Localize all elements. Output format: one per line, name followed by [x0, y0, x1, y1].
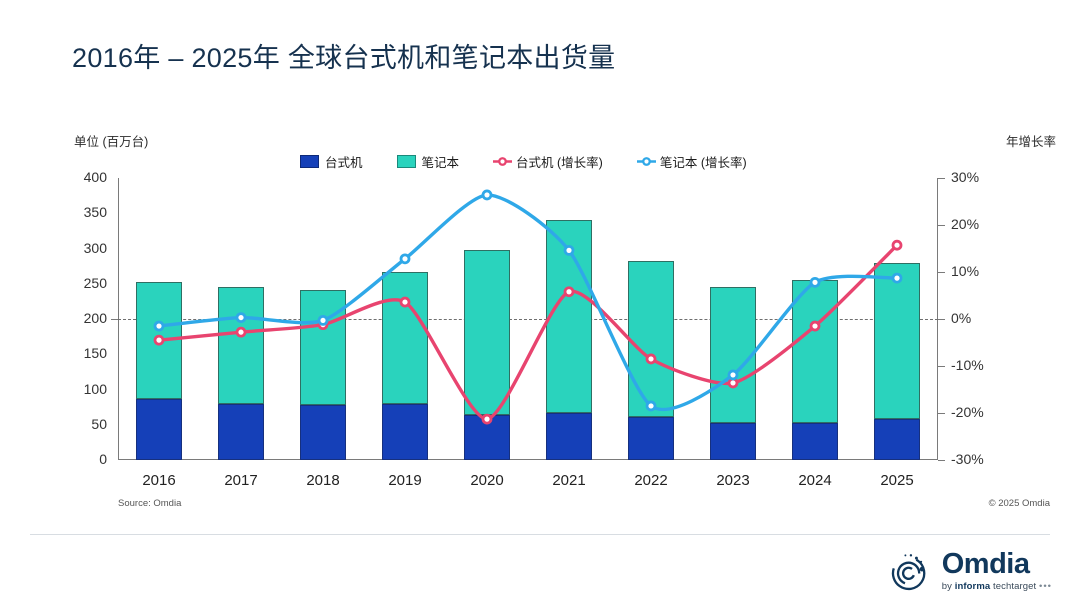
- footer-divider: [30, 534, 1050, 535]
- x-axis-label: 2021: [528, 472, 610, 489]
- x-axis-label: 2023: [692, 472, 774, 489]
- left-tick-label: 200: [84, 311, 107, 325]
- page-title: 2016年 – 2025年 全球台式机和笔记本出货量: [72, 36, 615, 75]
- bar-segment-notebook: [218, 287, 264, 404]
- bar-segment-desktop: [136, 399, 182, 460]
- legend-label: 台式机: [325, 152, 363, 171]
- omdia-swirl-icon: [887, 548, 933, 594]
- bar-group[interactable]: [382, 178, 428, 460]
- left-tick-label: 400: [84, 170, 107, 184]
- bar-segment-desktop: [300, 405, 346, 460]
- left-tick-label: 150: [84, 346, 107, 360]
- logo-tagline: by informa techtarget •••: [942, 582, 1052, 592]
- bar-segment-notebook: [628, 261, 674, 418]
- bar-segment-desktop: [218, 404, 264, 460]
- bar-group[interactable]: [792, 178, 838, 460]
- bar-segment-desktop: [710, 423, 756, 460]
- bar-segment-notebook: [710, 287, 756, 423]
- bar-segment-notebook: [136, 282, 182, 399]
- legend-desktop-growth[interactable]: 台式机 (增长率): [493, 152, 603, 171]
- bar-segment-desktop: [382, 404, 428, 460]
- right-tick-label: -30%: [951, 452, 984, 466]
- right-axis-caption: 年增长率: [1006, 131, 1056, 150]
- bar-segment-desktop: [874, 419, 920, 460]
- legend-label: 笔记本 (增长率): [660, 152, 747, 171]
- legend-label: 台式机 (增长率): [516, 152, 603, 171]
- copyright-note: © 2025 Omdia: [989, 498, 1050, 509]
- plot-area: 050100150200250300350400 -30%-20%-10%0%1…: [118, 178, 938, 460]
- x-axis-label: 2016: [118, 472, 200, 489]
- right-tick-label: -10%: [951, 358, 984, 372]
- right-tick-label: -20%: [951, 405, 984, 419]
- zero-tick-mark: [111, 319, 118, 320]
- slide-canvas: 2016年 – 2025年 全球台式机和笔记本出货量 单位 (百万台) 年增长率…: [0, 0, 1080, 608]
- bar-series: [118, 178, 938, 460]
- bar-segment-notebook: [464, 250, 510, 415]
- legend-notebook-bar[interactable]: 笔记本: [397, 152, 460, 171]
- x-axis-label: 2017: [200, 472, 282, 489]
- right-tick-label: 0%: [951, 311, 971, 325]
- bar-segment-desktop: [546, 413, 592, 460]
- right-tick-mark: [938, 460, 945, 461]
- bar-group[interactable]: [628, 178, 674, 460]
- legend-swatch-icon: [397, 155, 416, 168]
- x-axis-label: 2020: [446, 472, 528, 489]
- left-tick-label: 250: [84, 276, 107, 290]
- right-tick-mark: [938, 413, 945, 414]
- legend-line-marker-icon: [493, 155, 510, 168]
- bar-group[interactable]: [218, 178, 264, 460]
- right-tick-mark: [938, 225, 945, 226]
- right-tick-mark: [938, 272, 945, 273]
- left-tick-label: 0: [99, 452, 107, 466]
- right-tick-mark: [938, 178, 945, 179]
- source-note: Source: Omdia: [118, 498, 181, 509]
- x-axis-label: 2019: [364, 472, 446, 489]
- legend-label: 笔记本: [422, 152, 460, 171]
- right-tick-label: 20%: [951, 217, 979, 231]
- bar-segment-notebook: [874, 263, 920, 419]
- left-axis-caption: 单位 (百万台): [74, 131, 148, 150]
- right-tick-mark: [938, 366, 945, 367]
- right-tick-label: 10%: [951, 264, 979, 278]
- left-tick-label: 50: [91, 417, 107, 431]
- left-tick-label: 100: [84, 382, 107, 396]
- left-tick-label: 350: [84, 205, 107, 219]
- legend-desktop-bar[interactable]: 台式机: [300, 152, 363, 171]
- x-axis-label: 2018: [282, 472, 364, 489]
- legend-notebook-growth[interactable]: 笔记本 (增长率): [637, 152, 747, 171]
- bar-segment-desktop: [792, 423, 838, 460]
- bar-group[interactable]: [874, 178, 920, 460]
- legend-line-marker-icon: [637, 155, 654, 168]
- x-axis-label: 2024: [774, 472, 856, 489]
- bar-group[interactable]: [710, 178, 756, 460]
- bar-segment-desktop: [628, 417, 674, 460]
- x-axis-label: 2025: [856, 472, 938, 489]
- bar-segment-notebook: [382, 272, 428, 405]
- legend-swatch-icon: [300, 155, 319, 168]
- x-axis-label: 2022: [610, 472, 692, 489]
- bar-group[interactable]: [136, 178, 182, 460]
- bar-group[interactable]: [464, 178, 510, 460]
- omdia-logo: Omdia by informa techtarget •••: [887, 548, 1052, 594]
- left-tick-label: 300: [84, 241, 107, 255]
- bar-segment-notebook: [300, 290, 346, 405]
- logo-wordmark: Omdia: [942, 550, 1052, 579]
- bar-segment-desktop: [464, 415, 510, 460]
- right-tick-label: 30%: [951, 170, 979, 184]
- bar-group[interactable]: [300, 178, 346, 460]
- bar-group[interactable]: [546, 178, 592, 460]
- chart-legend: 台式机笔记本台式机 (增长率)笔记本 (增长率): [300, 152, 747, 171]
- right-tick-mark: [938, 319, 945, 320]
- bar-segment-notebook: [792, 280, 838, 423]
- bar-segment-notebook: [546, 220, 592, 413]
